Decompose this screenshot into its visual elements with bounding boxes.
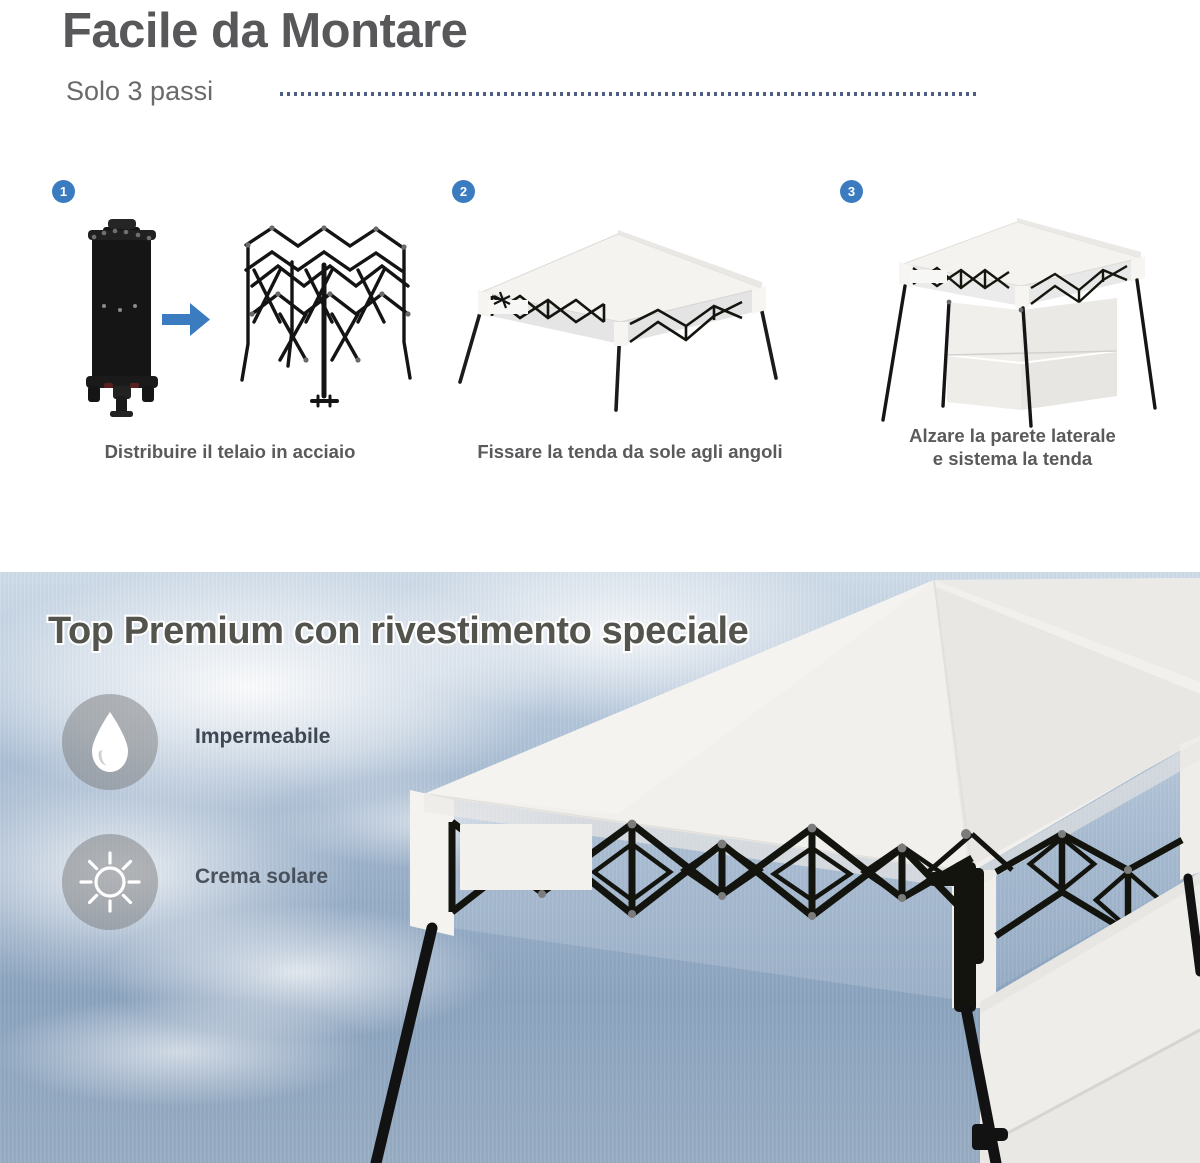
folded-and-expanded-frame-icon (30, 210, 430, 425)
canopy-low-frame-icon (430, 210, 830, 425)
premium-top-section: Top Premium con rivestimento speciale Im… (0, 572, 1200, 1163)
step-2-illustration (430, 210, 830, 425)
step-number-badge: 1 (52, 180, 75, 203)
page-title: Facile da Montare (62, 2, 467, 60)
step-1-caption: Distribuire il telaio in acciaio (30, 440, 430, 463)
canopy-product-photo (332, 572, 1200, 1163)
step-3-caption: Alzare la parete laterale e sistema la t… (825, 424, 1200, 470)
sun-icon (62, 834, 158, 930)
step-3-caption-line-2: e sistema la tenda (933, 448, 1092, 469)
water-drop-icon (62, 694, 158, 790)
step-1-illustration (30, 210, 430, 425)
canopy-photo-illustration (332, 572, 1200, 1163)
erected-canopy-icon (825, 210, 1200, 435)
feature-badge-circle (62, 834, 158, 930)
step-number-badge: 3 (840, 180, 863, 203)
feature-label: Crema solare (195, 865, 328, 889)
arrow-right-icon (162, 303, 210, 336)
step-3-caption-line-1: Alzare la parete laterale (909, 425, 1116, 446)
section-heading: Top Premium con rivestimento speciale (48, 610, 748, 653)
marketing-infographic-page: Facile da Montare Solo 3 passi 1 (0, 0, 1200, 1163)
setup-step-3: 3 (825, 170, 1200, 500)
feature-badge-circle (62, 694, 158, 790)
feature-label: Impermeabile (195, 725, 330, 749)
easy-setup-section: Facile da Montare Solo 3 passi 1 (0, 0, 1200, 572)
setup-step-2: 2 (430, 170, 830, 500)
dotted-divider (280, 92, 980, 96)
step-2-caption: Fissare la tenda da sole agli angoli (430, 440, 830, 463)
setup-step-1: 1 (30, 170, 430, 500)
step-3-illustration (825, 210, 1200, 425)
page-subtitle: Solo 3 passi (66, 74, 213, 108)
step-number-badge: 2 (452, 180, 475, 203)
